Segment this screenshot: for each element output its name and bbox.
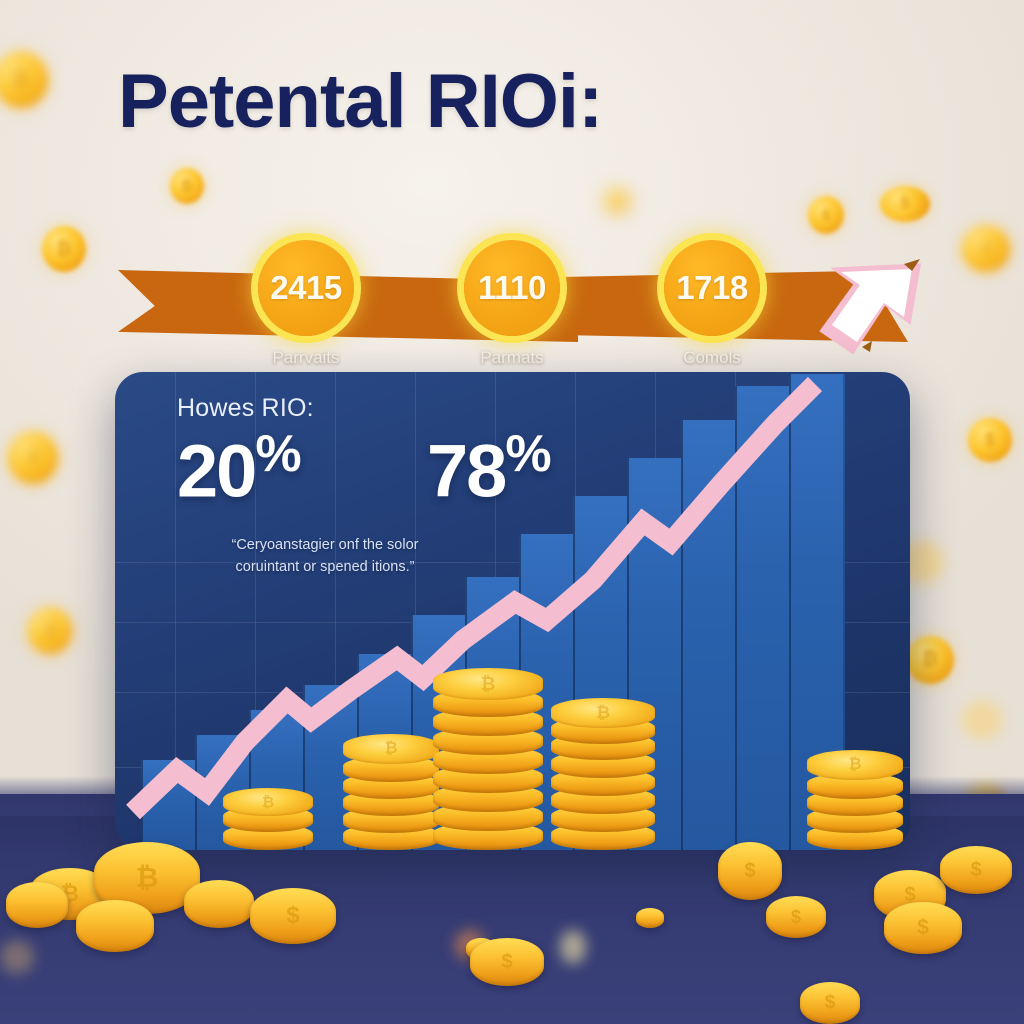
stat-badge-value: 1110 [478, 269, 546, 307]
stat-badge-label-3: Comols [622, 348, 802, 368]
scattered-coin [6, 882, 68, 928]
scattered-coin: $ [940, 846, 1012, 894]
bokeh-glow [560, 930, 586, 964]
floating-coin-icon: $ [968, 418, 1012, 462]
scattered-coin [636, 908, 664, 928]
page-title: Petental RIOi: [118, 58, 602, 145]
panel-kicker: Howes RIO: [177, 394, 314, 423]
scattered-coin: $ [766, 896, 826, 938]
stat-badge-value: 2415 [270, 269, 341, 307]
infographic-canvas: ₿ ₿ ₿ $ ₿ ₿ $ $ $ $ ₿ $ Petental RIOi: 2… [0, 0, 1024, 1024]
stat-percent-1: 20% [177, 424, 301, 514]
coin-stack: ₿ [223, 788, 313, 850]
stat-percent-2-unit: % [505, 425, 550, 483]
bokeh-glow [0, 940, 34, 974]
floating-coin-icon: ₿ [906, 636, 954, 684]
panel-quote-line-2: coruintant or spened itions.” [236, 559, 415, 575]
stat-percent-1-unit: % [255, 425, 300, 483]
panel-quote-line-1: “Ceryoanstagier onf the solor [232, 537, 419, 553]
scattered-coin: $ [884, 902, 962, 954]
scattered-coin: $ [470, 938, 544, 986]
floating-coin-icon: ₿ [0, 52, 48, 108]
stat-percent-2-number: 78 [427, 430, 505, 513]
stat-badge-1[interactable]: 2415 [258, 240, 354, 336]
floating-coin-icon: ₿ [170, 168, 204, 204]
scattered-coin: $ [718, 842, 782, 900]
floating-coin-icon [606, 190, 628, 212]
panel-quote: “Ceryoanstagier onf the solor coruintant… [175, 534, 475, 579]
scattered-coin: $ [800, 982, 860, 1024]
up-right-arrow-icon [800, 255, 930, 365]
scattered-coin: $ [250, 888, 336, 944]
bokeh-glow [962, 700, 1002, 740]
coin-stack: ₿ [807, 746, 903, 850]
floating-coin-icon: $ [880, 186, 930, 222]
scattered-coin [76, 900, 154, 952]
floating-coin-icon: ₿ [42, 226, 86, 272]
stat-badge-value: 1718 [676, 269, 747, 307]
coin-stack: ₿ [551, 698, 655, 850]
floating-coin-icon: $ [808, 196, 844, 234]
coin-stack: ₿ [343, 732, 439, 850]
floating-coin-icon: $ [962, 226, 1010, 272]
scattered-coin [184, 880, 254, 928]
stat-percent-2: 78% [427, 424, 551, 514]
floating-coin-icon: ₿ [28, 608, 72, 654]
stat-percent-1-number: 20 [177, 430, 255, 513]
stat-badge-2[interactable]: 1110 [464, 240, 560, 336]
coin-stack: ₿ [433, 668, 543, 850]
floating-coin-icon: $ [8, 432, 58, 484]
panel-kicker-wrap: Howes RIO: [177, 394, 314, 423]
chart-panel: Howes RIO: 20% 78% “Ceryoanstagier onf t… [115, 372, 910, 850]
stat-badge-label-1: Parrvaits [216, 348, 396, 368]
stat-badge-3[interactable]: 1718 [664, 240, 760, 336]
stat-badge-label-2: Parmats [422, 348, 602, 368]
